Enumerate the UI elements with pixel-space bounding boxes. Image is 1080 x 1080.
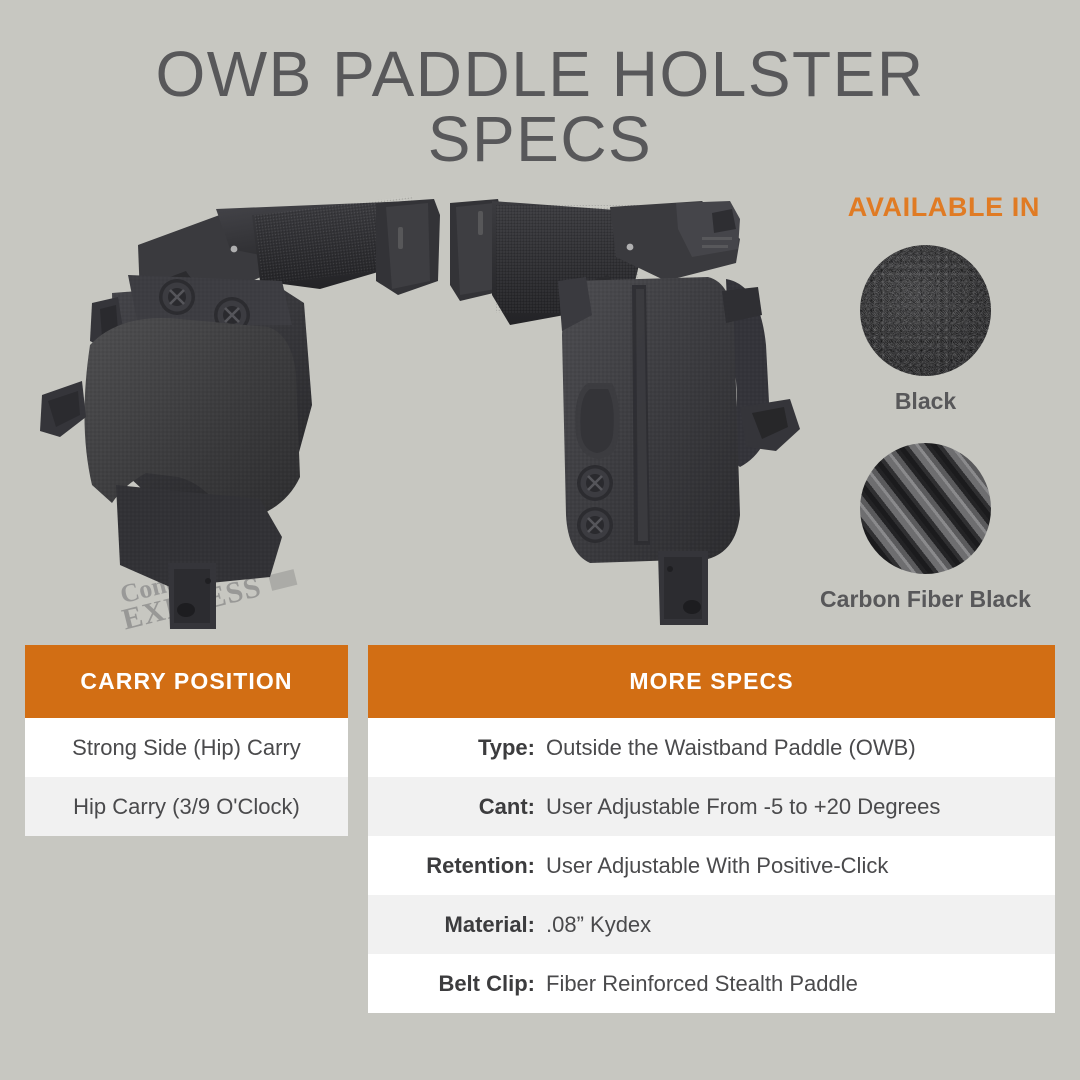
swatch-black-circle — [860, 245, 991, 376]
carry-position-value: Hip Carry (3/9 O'Clock) — [73, 794, 300, 820]
swatch-black[interactable]: Black — [860, 245, 991, 415]
spec-label: Retention: — [386, 853, 541, 879]
more-specs-header: MORE SPECS — [368, 645, 1055, 718]
spec-value: Outside the Waistband Paddle (OWB) — [541, 735, 916, 761]
retention-screw-lower-right — [577, 507, 613, 543]
spec-label: Material: — [386, 912, 541, 938]
page-title: OWB PADDLE HOLSTER SPECS — [0, 42, 1080, 173]
table-row: Material: .08” Kydex — [368, 895, 1055, 954]
swatch-black-label: Black — [860, 388, 991, 415]
spec-value: Fiber Reinforced Stealth Paddle — [541, 971, 858, 997]
swatch-carbon-fiber[interactable]: Carbon Fiber Black — [860, 443, 991, 574]
holster-image-left: Concealment EXPRESS — [20, 185, 460, 635]
spec-label: Type: — [386, 735, 541, 761]
page-title-line2: SPECS — [0, 107, 1080, 172]
spec-label: Cant: — [386, 794, 541, 820]
carry-position-value: Strong Side (Hip) Carry — [72, 735, 301, 761]
more-specs-table: MORE SPECS Type: Outside the Waistband P… — [368, 645, 1055, 1013]
available-in-heading: AVAILABLE IN — [848, 192, 1040, 223]
table-row: Strong Side (Hip) Carry — [25, 718, 348, 777]
spec-value: User Adjustable With Positive-Click — [541, 853, 888, 879]
table-row: Retention: User Adjustable With Positive… — [368, 836, 1055, 895]
table-row: Cant: User Adjustable From -5 to +20 Deg… — [368, 777, 1055, 836]
retention-screw-upper-right — [577, 465, 613, 501]
table-row: Type: Outside the Waistband Paddle (OWB) — [368, 718, 1055, 777]
holster-image-right — [440, 185, 840, 635]
table-row: Belt Clip: Fiber Reinforced Stealth Padd… — [368, 954, 1055, 1013]
page-title-line1: OWB PADDLE HOLSTER — [155, 38, 924, 110]
carry-position-header: CARRY POSITION — [25, 645, 348, 718]
spec-value: User Adjustable From -5 to +20 Degrees — [541, 794, 940, 820]
swatch-carbon-fiber-circle — [860, 443, 991, 574]
swatch-carbon-fiber-label: Carbon Fiber Black — [795, 586, 1056, 613]
bottom-tab-right — [658, 551, 708, 625]
spec-value: .08” Kydex — [541, 912, 651, 938]
carry-position-table: CARRY POSITION Strong Side (Hip) Carry H… — [25, 645, 348, 836]
screw-upper-left — [159, 279, 195, 315]
table-row: Hip Carry (3/9 O'Clock) — [25, 777, 348, 836]
spec-label: Belt Clip: — [386, 971, 541, 997]
bottom-tab-left — [168, 563, 216, 629]
